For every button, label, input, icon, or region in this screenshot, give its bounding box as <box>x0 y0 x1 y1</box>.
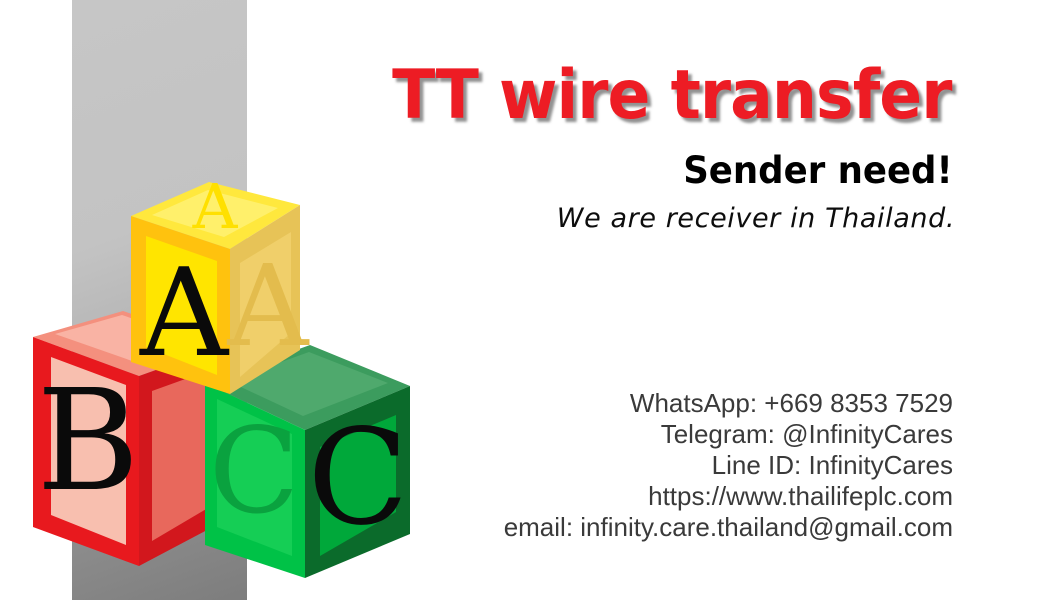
contact-line-website[interactable]: https://www.thailifeplc.com <box>504 481 953 512</box>
contact-line-whatsapp: WhatsApp: +669 8353 7529 <box>504 388 953 419</box>
contact-block: WhatsApp: +669 8353 7529 Telegram: @Infi… <box>504 388 953 543</box>
tagline: We are receiver in Thailand. <box>557 205 955 232</box>
business-card-banner: B C C A <box>0 0 1063 600</box>
block-a-letter: A <box>139 242 230 384</box>
contact-line-lineid: Line ID: InfinityCares <box>504 450 953 481</box>
block-b-letter: B <box>37 360 140 523</box>
subtitle: Sender need! <box>684 152 953 189</box>
page-title: TT wire transfer <box>393 62 952 130</box>
text-column: TT wire transfer Sender need! We are rec… <box>250 0 1063 600</box>
contact-line-telegram: Telegram: @InfinityCares <box>504 419 953 450</box>
block-a-top-letter: A <box>192 170 239 243</box>
contact-line-email[interactable]: email: infinity.care.thailand@gmail.com <box>504 512 953 543</box>
